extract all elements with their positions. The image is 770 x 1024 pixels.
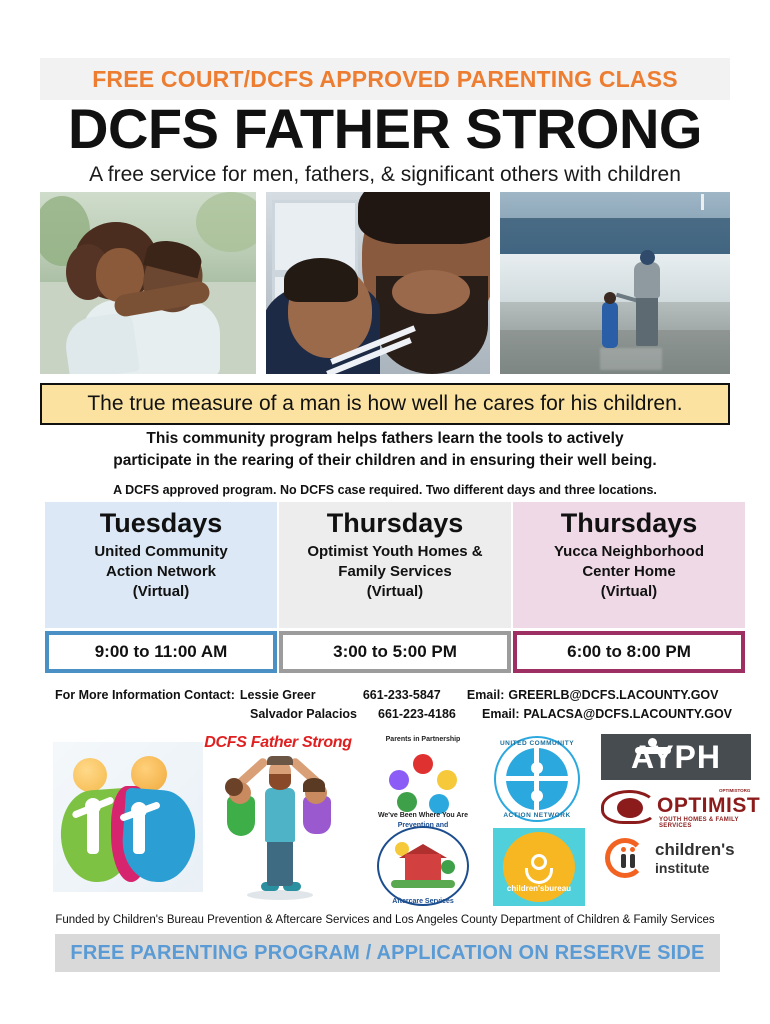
contact-block: For More Information Contact: Lessie Gre… [55,686,735,724]
kicker-text: FREE COURT/DCFS APPROVED PARENTING CLASS [92,66,678,93]
pip-top-text: Parents in Partnership [367,736,479,743]
time-box-thursdays-optimist: 3:00 to 5:00 PM [279,631,511,673]
schedule-day: Thursdays [561,508,698,539]
kicker-band: FREE COURT/DCFS APPROVED PARENTING CLASS [40,58,730,100]
page-subtitle: A free service for men, fathers, & signi… [0,163,770,187]
optimist-tiny-text: OPTIMISTORG [719,788,750,793]
quote-text: The true measure of a man is how well he… [87,392,682,416]
schedule-org: Optimist Youth Homes & Family Services (… [307,542,482,601]
dcfs-father-strong-icon: DCFS Father Strong [203,734,353,906]
schedule-day: Thursdays [327,508,464,539]
pas-bottom-text: Aftercare Services [367,898,479,905]
ucan-top-text: UNITED COMMUNITY [488,740,586,747]
ci-line1: children's [655,840,735,860]
time-box-tuesdays: 9:00 to 11:00 AM [45,631,277,673]
optimist-sub: YOUTH HOMES & FAMILY SERVICES [659,817,753,829]
contact-name: Lessie Greer [235,686,363,705]
schedule-org-line2: Family Services [307,562,482,582]
childrens-bureau-text: children'sbureau [493,884,585,893]
ci-line2: institute [655,860,709,876]
schedule-org-line1: United Community [94,542,227,562]
time-text: 6:00 to 8:00 PM [567,642,691,662]
contact-email-label: Email: [482,705,524,724]
optimist-icon: OPTIMISTORG OPTIMIST YOUTH HOMES & FAMIL… [601,786,753,830]
description-line-2: participate in the rearing of their chil… [0,450,770,472]
schedule-column-thursdays-optimist: Thursdays Optimist Youth Homes & Family … [279,502,511,628]
father-strong-title: DCFS Father Strong [203,734,353,752]
prevention-aftercare-icon: Prevention and Aftercare Services [367,822,479,910]
schedule-mode: (Virtual) [554,582,704,602]
schedule-day: Tuesdays [100,508,223,539]
time-text: 9:00 to 11:00 AM [95,642,228,662]
schedule-column-tuesdays: Tuesdays United Community Action Network… [45,502,277,628]
contact-phone: 661-233-5847 [363,686,467,705]
pip-bottom-text: We've Been Where You Are [367,812,479,819]
contact-phone: 661-223-4186 [378,705,482,724]
schedule-org-line2: Action Network [94,562,227,582]
pas-top-text: Prevention and [367,822,479,829]
schedule-org: United Community Action Network (Virtual… [94,542,227,601]
optimist-word: OPTIMIST [657,794,760,818]
contact-label: For More Information Contact: [55,686,235,705]
photo-father-daughter [40,192,256,374]
schedule-org-line1: Yucca Neighborhood [554,542,704,562]
schedule-headers: Tuesdays United Community Action Network… [45,502,745,628]
schedule-mode: (Virtual) [307,582,482,602]
description-line-1: This community program helps fathers lea… [0,428,770,450]
footer-banner-text: FREE PARENTING PROGRAM / APPLICATION ON … [70,942,704,965]
footer-banner: FREE PARENTING PROGRAM / APPLICATION ON … [55,934,720,972]
schedule-mode: (Virtual) [94,582,227,602]
quote-banner: The true measure of a man is how well he… [40,383,730,425]
photo-father-son-closeup [266,192,490,374]
photo-beach-walk [500,192,730,374]
schedule-org-line1: Optimist Youth Homes & [307,542,482,562]
united-community-action-network-icon: UNITED COMMUNITY ACTION NETWORK [488,734,586,826]
logo-row: DCFS Father Strong Parents in Partnershi… [45,730,735,910]
contact-row: For More Information Contact: Lessie Gre… [55,686,735,705]
parents-in-partnership-icon: Parents in Partnership We've Been Where … [367,736,479,822]
contact-email: PALACSA@DCFS.LACOUNTY.GOV [524,705,733,724]
schedule-org-line2: Center Home [554,562,704,582]
schedule-org: Yucca Neighborhood Center Home (Virtual) [554,542,704,601]
time-text: 3:00 to 5:00 PM [333,642,457,662]
childrens-bureau-icon: children'sbureau [493,828,585,906]
flyer-page: FREE COURT/DCFS APPROVED PARENTING CLASS… [0,0,770,1024]
time-box-thursdays-yucca: 6:00 to 8:00 PM [513,631,745,673]
program-note: A DCFS approved program. No DCFS case re… [0,483,770,497]
page-title: DCFS FATHER STRONG [0,100,770,159]
program-description: This community program helps fathers lea… [0,428,770,473]
contact-name: Salvador Palacios [250,705,378,724]
schedule-times: 9:00 to 11:00 AM 3:00 to 5:00 PM 6:00 to… [45,631,745,673]
schedule-table: Tuesdays United Community Action Network… [45,502,745,673]
funding-statement: Funded by Children's Bureau Prevention &… [0,914,770,926]
ayph-icon: AYPH [601,734,751,780]
ayph-text: AYPH [631,741,721,773]
schedule-column-thursdays-yucca: Thursdays Yucca Neighborhood Center Home… [513,502,745,628]
contact-email: GREERLB@DCFS.LACOUNTY.GOV [508,686,718,705]
contact-row: Salvador Palacios 661-223-4186 Email: PA… [55,705,735,724]
ucan-bottom-text: ACTION NETWORK [488,812,586,819]
contact-email-label: Email: [467,686,509,705]
childrens-institute-icon: children's institute [605,834,755,884]
family-heart-icon [53,742,203,892]
photo-strip [40,192,730,374]
